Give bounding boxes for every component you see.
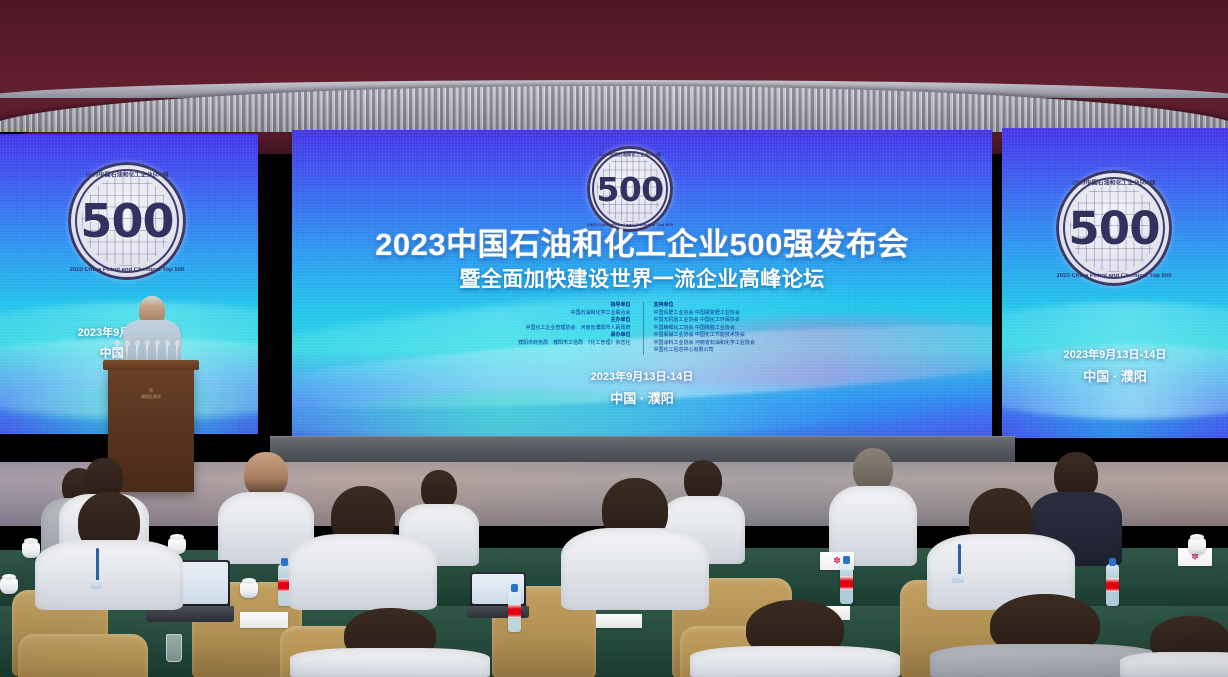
main-screen-date: 2023年9月13日-14日 (292, 368, 992, 384)
conference-hall-scene: 2023中国石油和化工企业500强 2023 China Petrol and … (0, 0, 1228, 677)
lectern-plate-line1: 简 (149, 388, 153, 393)
credit-label-guidance: 指导单位 (492, 302, 631, 310)
attendee-mid-2 (288, 486, 438, 610)
emblem-right-arc-top: 2023中国石油和化工企业500强 (1056, 179, 1172, 187)
teacup (240, 582, 258, 598)
attendee-torso (1120, 652, 1228, 677)
led-screen-main: 2023中国石油和化工企业500强 2023 China Petrol and … (292, 130, 992, 442)
attendee-front-1 (290, 608, 490, 677)
emblem-left-arc-bottom: 2023 China Petrol and Chemical Top 500 (68, 267, 186, 272)
emblem-right-number: 500 (1068, 202, 1159, 255)
emblem-left-number: 500 (80, 194, 173, 248)
attendee-badge (90, 580, 102, 589)
credit-value-host: 中国化工企业管理协会 河南省濮阳市人民政府 (492, 325, 631, 333)
event-title: 2023中国石油和化工企业500强发布会 (292, 226, 992, 264)
emblem-right-arc-bottom: 2023 China Petrol and Chemical Top 500 (1056, 273, 1172, 278)
water-bottle (508, 590, 521, 632)
paper-sheet (240, 612, 288, 628)
water-bottle (840, 562, 853, 604)
emblem-left: 2023中国石油和化工企业500强 2023 China Petrol and … (68, 162, 186, 280)
main-headline-block: 2023中国石油和化工企业500强发布会 暨全面加快建设世界一流企业高峰论坛 (292, 226, 992, 294)
credit-value-support-1: 中国氮肥工业协会 中国磷复肥工业协会 (654, 310, 793, 318)
credit-label-host: 主办单位 (492, 317, 631, 325)
emblem-left-arc-top: 2023中国石油和化工企业500强 (68, 171, 186, 179)
attendee-torso (35, 540, 183, 610)
attendee-torso (289, 534, 437, 610)
chair (18, 634, 148, 677)
credit-value-support-5: 中国涂料工业协会 河南省石油和化学工业协会 (654, 340, 793, 348)
main-screen-location: 中国 · 濮阳 (292, 388, 992, 407)
event-subtitle: 暨全面加快建设世界一流企业高峰论坛 (292, 266, 992, 294)
credit-value-support-2: 中国无机盐工业协会 中国化工环保协会 (654, 317, 793, 325)
teacup (1188, 538, 1206, 554)
lanyard-strap (96, 548, 99, 582)
attendee-torso (561, 528, 709, 610)
paper-sheet (596, 614, 642, 628)
attendee-front-2 (690, 600, 900, 677)
lanyard-strap (958, 544, 961, 576)
lectern-nameplate: 简 濮阳区美里 (108, 388, 194, 400)
credit-value-guidance: 中国石油和化学工业联合会 (492, 310, 631, 318)
credit-value-support-6: 中国化工信息中心有限公司 (654, 347, 793, 355)
right-screen-date: 2023年9月13日-14日 (1002, 346, 1228, 362)
credit-label-support: 支持单位 (654, 302, 793, 310)
right-screen-location: 中国 · 濮阳 (1002, 366, 1228, 385)
credit-value-support-4: 中国氯碱工业协会 中国化工节能技术协会 (654, 332, 793, 340)
attendee-back-6 (828, 448, 918, 566)
credits-column-right: 支持单位 中国氮肥工业协会 中国磷复肥工业协会 中国无机盐工业协会 中国化工环保… (643, 302, 793, 355)
emblem-main-number: 500 (597, 170, 664, 209)
organizer-credits: 指导单位 中国石油和化学工业联合会 主办单位 中国化工企业管理协会 河南省濮阳市… (492, 302, 792, 355)
emblem-right: 2023中国石油和化工企业500强 2023 China Petrol and … (1056, 170, 1172, 286)
drinking-glass (166, 634, 182, 662)
credits-column-left: 指导单位 中国石油和化学工业联合会 主办单位 中国化工企业管理协会 河南省濮阳市… (492, 302, 631, 355)
emblem-main-arc-bottom: 2023 China Petrol and Chemical Top 500 (587, 222, 673, 227)
lectern-plate-line2: 濮阳区美里 (141, 394, 161, 399)
led-screen-right: 2023中国石油和化工企业500强 2023 China Petrol and … (1002, 128, 1228, 438)
attendee-torso (290, 648, 490, 677)
audience-area: ✽ ✽ ✽ ✽ (0, 430, 1228, 677)
attendee-badge (952, 574, 964, 583)
teacup (0, 578, 18, 594)
attendee-front-4 (1120, 616, 1228, 677)
attendee-mid-1 (34, 492, 184, 610)
attendee-torso (690, 646, 900, 677)
lectern-top (103, 360, 199, 370)
attendee-mid-3 (560, 478, 710, 610)
emblem-main-arc-top: 2023中国石油和化工企业500强 (587, 152, 673, 157)
credit-label-organizer: 承办单位 (492, 332, 631, 340)
credit-value-organizer: 濮阳市商务局 濮阳市工信局 《化工管理》杂志社 (492, 340, 631, 348)
emblem-main: 2023中国石油和化工企业500强 2023 China Petrol and … (587, 146, 673, 232)
credit-value-support-3: 中国精细化工协会 中国橡胶工业协会 (654, 325, 793, 333)
attendee-mid-4 (926, 488, 1076, 610)
